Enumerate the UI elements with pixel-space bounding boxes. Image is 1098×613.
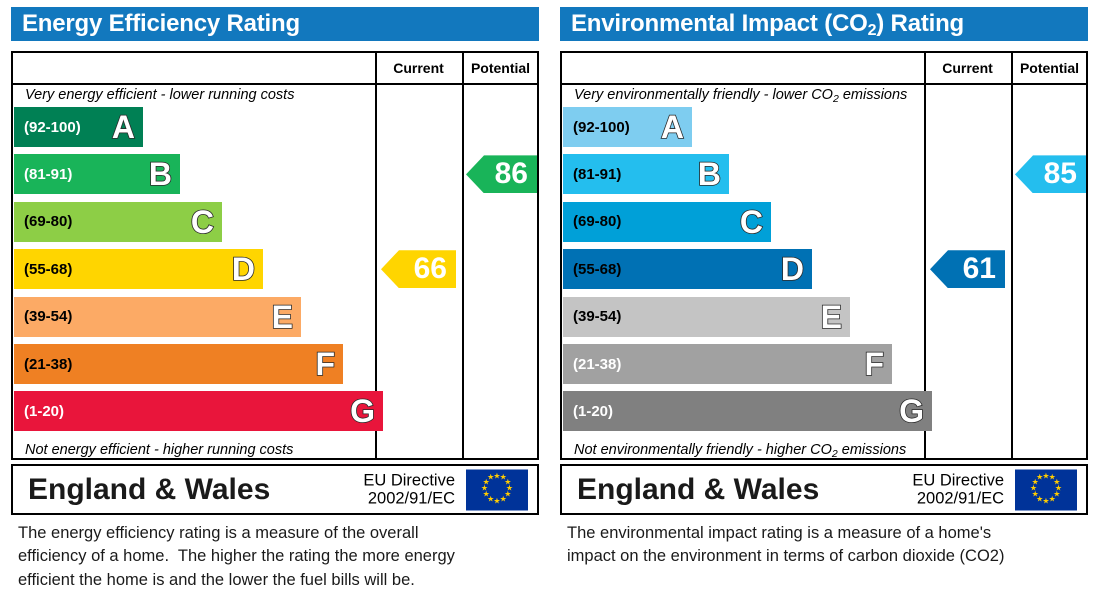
caption-bottom-energy: Not energy efficient - higher running co…: [25, 442, 293, 458]
chart-title-suffix: ) Rating: [876, 10, 964, 37]
rating-band-d: (55-68)D: [563, 249, 812, 289]
band-range-label: (81-91): [14, 167, 72, 182]
band-letter-label: C: [191, 206, 214, 238]
caption-top-energy: Very energy efficient - lower running co…: [25, 87, 294, 103]
eu-flag-icon: ★★★★★★★★★★★★: [1015, 469, 1077, 510]
column-header-potential: Potential: [462, 53, 539, 83]
rating-band-f: (21-38)F: [563, 344, 892, 384]
chart-title-text: Energy Efficiency Rating: [22, 10, 300, 37]
potential-rating-arrow: 86: [466, 155, 537, 193]
description-environmental: The environmental impact rating is a mea…: [567, 522, 1087, 569]
band-letter-label: A: [661, 111, 684, 143]
chart-header-environmental: Environmental Impact (CO2) Rating: [560, 7, 1088, 41]
rating-band-e: (39-54)E: [563, 297, 850, 337]
potential-rating-cell-environmental: 85: [1011, 85, 1088, 460]
band-letter-label: A: [112, 111, 135, 143]
rating-band-e: (39-54)E: [14, 297, 301, 337]
footer-eu-directive: EU Directive 2002/91/EC: [363, 471, 455, 508]
band-range-label: (69-80): [563, 214, 621, 229]
rating-band-f: (21-38)F: [14, 344, 343, 384]
band-letter-label: E: [821, 301, 842, 333]
band-range-label: (39-54): [14, 309, 72, 324]
band-letter-label: F: [315, 348, 335, 380]
epc-chart-page: Energy Efficiency Rating Current Potenti…: [0, 0, 1098, 613]
description-energy: The energy efficiency rating is a measur…: [18, 522, 538, 592]
band-letter-label: E: [272, 301, 293, 333]
rating-band-g: (1-20)G: [563, 391, 932, 431]
rating-bands-energy: (92-100)A(81-91)B(69-80)C(55-68)D(39-54)…: [13, 107, 375, 439]
rating-band-c: (69-80)C: [563, 202, 771, 242]
eu-directive-line2: 2002/91/EC: [912, 490, 1004, 508]
band-range-label: (55-68): [563, 262, 621, 277]
band-letter-label: D: [232, 253, 255, 285]
column-header-potential: Potential: [1011, 53, 1088, 83]
band-letter-label: B: [149, 158, 172, 190]
potential-rating-arrow: 85: [1015, 155, 1086, 193]
eu-directive-line2: 2002/91/EC: [363, 490, 455, 508]
footer-region-label: England & Wales: [562, 475, 819, 505]
rating-table-energy: Current Potential Very energy efficient …: [11, 51, 539, 460]
current-rating-cell-energy: 66: [375, 85, 462, 460]
band-letter-label: B: [698, 158, 721, 190]
caption-bottom-environmental: Not environmentally friendly - higher CO…: [574, 442, 906, 458]
band-letter-label: G: [350, 395, 375, 427]
eu-directive-line1: EU Directive: [363, 471, 455, 489]
band-area-energy: Very energy efficient - lower running co…: [13, 85, 375, 460]
description-line: The environmental impact rating is a mea…: [567, 522, 1087, 545]
band-range-label: (92-100): [14, 120, 81, 135]
description-line: efficient the home is and the lower the …: [18, 569, 538, 592]
eu-directive-line1: EU Directive: [912, 471, 1004, 489]
band-letter-label: F: [864, 348, 884, 380]
band-area-environmental: Very environmentally friendly - lower CO…: [562, 85, 924, 460]
band-range-label: (21-38): [563, 357, 621, 372]
current-rating-arrow: 66: [381, 250, 456, 288]
band-range-label: (21-38): [14, 357, 72, 372]
rating-band-g: (1-20)G: [14, 391, 383, 431]
band-letter-label: D: [781, 253, 804, 285]
environmental-impact-chart: Environmental Impact (CO2) Rating Curren…: [549, 0, 1098, 613]
band-range-label: (55-68): [14, 262, 72, 277]
band-letter-label: G: [899, 395, 924, 427]
rating-band-b: (81-91)B: [14, 154, 180, 194]
footer-environmental: England & Wales EU Directive 2002/91/EC …: [560, 464, 1088, 515]
column-header-current: Current: [375, 53, 462, 83]
band-range-label: (1-20): [14, 404, 64, 419]
rating-band-b: (81-91)B: [563, 154, 729, 194]
energy-efficiency-chart: Energy Efficiency Rating Current Potenti…: [0, 0, 549, 613]
footer-region-label: England & Wales: [13, 475, 270, 505]
potential-rating-cell-energy: 86: [462, 85, 539, 460]
description-line: impact on the environment in terms of ca…: [567, 545, 1087, 568]
footer-eu-directive: EU Directive 2002/91/EC: [912, 471, 1004, 508]
chart-header-energy: Energy Efficiency Rating: [11, 7, 539, 41]
description-line: The energy efficiency rating is a measur…: [18, 522, 538, 545]
column-header-current: Current: [924, 53, 1011, 83]
eu-flag-icon: ★★★★★★★★★★★★: [466, 469, 528, 510]
band-range-label: (39-54): [563, 309, 621, 324]
chart-title-environmental: Environmental Impact (CO2) Rating: [560, 12, 964, 36]
rating-band-d: (55-68)D: [14, 249, 263, 289]
footer-energy: England & Wales EU Directive 2002/91/EC …: [11, 464, 539, 515]
description-line: efficiency of a home. The higher the rat…: [18, 545, 538, 568]
rating-bands-environmental: (92-100)A(81-91)B(69-80)C(55-68)D(39-54)…: [562, 107, 924, 439]
current-rating-cell-environmental: 61: [924, 85, 1011, 460]
band-range-label: (81-91): [563, 167, 621, 182]
chart-title-text: Environmental Impact (CO: [571, 10, 868, 37]
band-range-label: (69-80): [14, 214, 72, 229]
band-range-label: (1-20): [563, 404, 613, 419]
chart-title-energy: Energy Efficiency Rating: [11, 12, 300, 36]
rating-band-a: (92-100)A: [14, 107, 143, 147]
chart-title-subscript: 2: [868, 22, 877, 39]
rating-band-c: (69-80)C: [14, 202, 222, 242]
current-rating-arrow: 61: [930, 250, 1005, 288]
caption-top-environmental: Very environmentally friendly - lower CO…: [574, 87, 907, 103]
rating-table-environmental: Current Potential Very environmentally f…: [560, 51, 1088, 460]
band-range-label: (92-100): [563, 120, 630, 135]
band-letter-label: C: [740, 206, 763, 238]
rating-band-a: (92-100)A: [563, 107, 692, 147]
